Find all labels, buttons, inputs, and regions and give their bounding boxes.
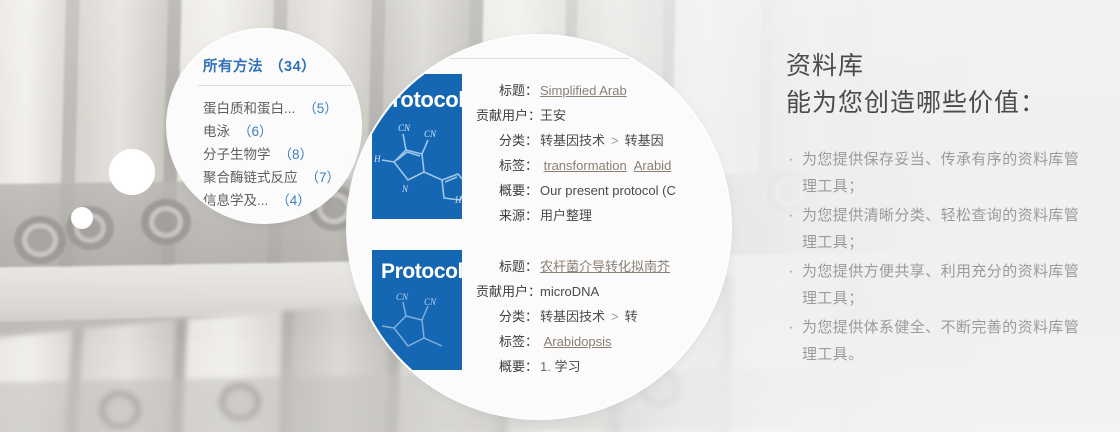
protocol-user-value: 王安 — [538, 103, 566, 128]
category-item-count: （4） — [276, 193, 311, 208]
marketing-bullet-item: 为您提供保存妥当、传承有序的资料库管理工具； — [786, 146, 1086, 200]
field-category-row: 分类 转基因技术>转 — [476, 304, 670, 329]
chemical-structure-icon: CN CN H N H — [372, 104, 462, 219]
breadcrumb-separator-icon: > — [611, 309, 619, 324]
category-item-molecular-biology[interactable]: 分子生物学（8） — [203, 143, 360, 166]
field-title-row: 标题 Simplified Arab — [476, 78, 678, 103]
promo-banner: 所有方法 （34） 蛋白质和蛋白...（5） 电泳（6） 分子生物学（8） 聚合… — [0, 0, 1120, 432]
svg-text:N: N — [401, 184, 409, 194]
field-source-label: 来源 — [476, 203, 538, 228]
field-summary-label: 概要 — [476, 354, 538, 379]
svg-text:H: H — [373, 154, 381, 164]
svg-text:CN: CN — [396, 292, 409, 302]
field-category-label: 分类 — [476, 128, 538, 153]
category-item-label: 蛋白质和蛋白... — [203, 101, 295, 116]
category-item-count: （5） — [303, 101, 338, 116]
decorative-circle-small — [71, 207, 93, 229]
field-title-label: 标题 — [476, 78, 538, 103]
field-tags-row: 标签 Arabidopsis — [476, 329, 670, 354]
protocol-card[interactable]: Protocol — [372, 74, 730, 228]
category-item-count: （6） — [238, 124, 273, 139]
protocol-card[interactable]: Protocol CN CN — [372, 250, 730, 379]
protocol-tag[interactable]: Arabidopsis — [544, 334, 612, 349]
category-item-count: （8） — [279, 147, 314, 162]
svg-text:CN: CN — [398, 123, 411, 133]
category-panel-header[interactable]: 所有方法 （34） — [198, 55, 360, 86]
protocol-summary-value: 学习 — [554, 359, 580, 374]
field-tags-label: 标签 — [476, 153, 538, 178]
marketing-copy: 资料库 能为您创造哪些价值： 为您提供保存妥当、传承有序的资料库管理工具； 为您… — [786, 48, 1086, 370]
marketing-bullet-item: 为您提供体系健全、不断完善的资料库管理工具。 — [786, 314, 1086, 368]
category-item-informatics[interactable]: 信息学及...（4） — [203, 189, 360, 212]
category-crumb-1[interactable]: 转基因技术 — [540, 309, 605, 324]
field-title-label: 标题 — [476, 254, 538, 279]
decorative-circle-large — [109, 149, 155, 195]
protocol-tag[interactable]: Arabid — [634, 158, 672, 173]
field-tags-row: 标签 transformationArabid — [476, 153, 678, 178]
protocol-title-link[interactable]: Simplified Arab — [540, 83, 627, 98]
category-item-electrophoresis[interactable]: 电泳（6） — [203, 120, 360, 143]
category-crumb-1[interactable]: 转基因技术 — [540, 133, 605, 148]
protocol-thumbnail[interactable]: Protocol CN CN — [372, 250, 462, 370]
field-summary-label: 概要 — [476, 178, 538, 203]
category-item-label: 电泳 — [203, 124, 230, 139]
category-item-pcr[interactable]: 聚合酶链式反应（7） — [203, 166, 360, 189]
protocol-tag[interactable]: transformation — [544, 158, 627, 173]
marketing-bullet-list: 为您提供保存妥当、传承有序的资料库管理工具； 为您提供清晰分类、轻松查询的资料库… — [786, 146, 1086, 368]
field-user-row: 贡献用户 microDNA — [476, 279, 670, 304]
protocol-fields: 标题 Simplified Arab 贡献用户 王安 分类 转基因技术>转基因 — [462, 74, 678, 228]
svg-text:CN: CN — [424, 297, 437, 307]
category-panel-header-count: （34） — [269, 55, 316, 76]
field-summary-row: 概要 Our present protocol (C — [476, 178, 678, 203]
results-panel-bubble: Protocol — [348, 36, 730, 418]
protocol-fields: 标题 农杆菌介导转化拟南芥 贡献用户 microDNA 分类 转基因技术>转 — [462, 250, 670, 379]
category-list: 蛋白质和蛋白...（5） 电泳（6） 分子生物学（8） 聚合酶链式反应（7） 信… — [198, 86, 360, 212]
category-crumb-2[interactable]: 转基因 — [625, 133, 664, 148]
category-crumb-2[interactable]: 转 — [625, 309, 638, 324]
field-user-label: 贡献用户 — [476, 279, 538, 304]
category-panel-bubble: 所有方法 （34） 蛋白质和蛋白...（5） 电泳（6） 分子生物学（8） 聚合… — [168, 30, 360, 222]
field-category-row: 分类 转基因技术>转基因 — [476, 128, 678, 153]
protocol-summary-value: Our present protocol (C — [538, 178, 676, 203]
field-user-row: 贡献用户 王安 — [476, 103, 678, 128]
field-source-row: 来源 用户整理 — [476, 203, 678, 228]
results-top-divider — [412, 58, 730, 59]
svg-text:H: H — [454, 195, 462, 205]
category-item-label: 分子生物学 — [203, 147, 271, 162]
field-title-row: 标题 农杆菌介导转化拟南芥 — [476, 254, 670, 279]
protocol-thumbnail[interactable]: Protocol — [372, 74, 462, 219]
protocol-title-link[interactable]: 农杆菌介导转化拟南芥 — [540, 259, 670, 274]
field-category-label: 分类 — [476, 304, 538, 329]
category-panel: 所有方法 （34） 蛋白质和蛋白...（5） 电泳（6） 分子生物学（8） 聚合… — [198, 55, 360, 212]
marketing-bullet-item: 为您提供方便共享、利用充分的资料库管理工具； — [786, 258, 1086, 312]
protocol-source-value: 用户整理 — [538, 203, 592, 228]
marketing-heading-line1: 资料库 — [786, 52, 864, 80]
marketing-heading-line2: 能为您创造哪些价值： — [786, 89, 1046, 117]
chemical-structure-icon: CN CN — [372, 280, 462, 370]
marketing-heading: 资料库 能为您创造哪些价值： — [786, 48, 1086, 122]
summary-step-number: 1. — [540, 359, 551, 374]
category-panel-header-label: 所有方法 — [203, 55, 263, 76]
category-item-label: 聚合酶链式反应 — [203, 170, 298, 185]
svg-text:CN: CN — [424, 129, 437, 139]
category-item-protein[interactable]: 蛋白质和蛋白...（5） — [203, 97, 360, 120]
results-list: Protocol — [372, 58, 730, 379]
marketing-bullet-item: 为您提供清晰分类、轻松查询的资料库管理工具； — [786, 202, 1086, 256]
field-user-label: 贡献用户 — [476, 103, 538, 128]
category-item-label: 信息学及... — [203, 193, 268, 208]
category-item-count: （7） — [306, 170, 341, 185]
protocol-user-value: microDNA — [538, 279, 599, 304]
breadcrumb-separator-icon: > — [611, 133, 619, 148]
field-tags-label: 标签 — [476, 329, 538, 354]
field-summary-row: 概要 1. 学习 — [476, 354, 670, 379]
